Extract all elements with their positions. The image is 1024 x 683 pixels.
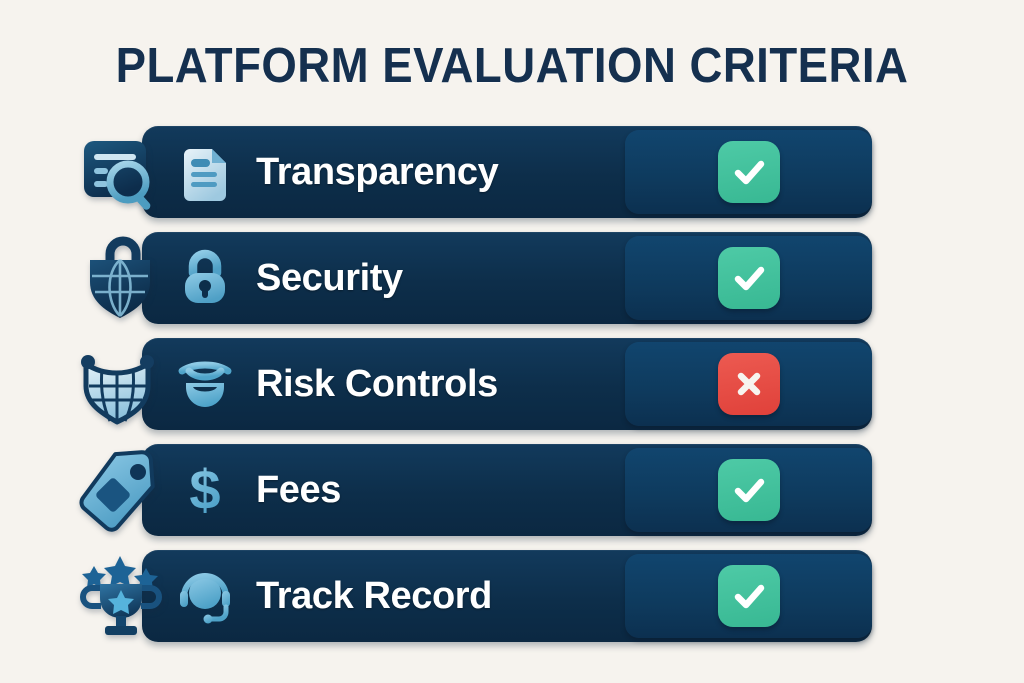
criteria-label: Fees [256,469,341,512]
criteria-row[interactable]: Risk Controls [0,338,1024,430]
criteria-label: Transparency [256,151,498,194]
check-icon [729,470,769,510]
criteria-label: Security [256,257,403,300]
check-icon [729,576,769,616]
status-panel[interactable] [625,448,872,532]
criteria-label: Track Record [256,575,492,618]
criteria-label: Risk Controls [256,363,498,406]
page-title: PLATFORM EVALUATION CRITERIA [36,38,988,94]
check-icon [729,258,769,298]
dollar-sign-icon: $ [166,459,244,521]
criteria-row[interactable]: Security [0,232,1024,324]
price-tag-badge-icon [78,448,164,534]
status-badge[interactable] [718,247,780,309]
criteria-row[interactable]: $ Fees [0,444,1024,536]
status-badge[interactable] [718,565,780,627]
shield-net-icon [166,353,244,415]
infographic-page: PLATFORM EVALUATION CRITERIA [0,0,1024,683]
criteria-row[interactable]: Transparency [0,126,1024,218]
status-panel[interactable] [625,342,872,426]
check-icon [729,152,769,192]
headset-icon [166,565,244,627]
status-panel[interactable] [625,236,872,320]
trophy-stars-badge-icon [78,554,164,640]
status-badge[interactable] [718,459,780,521]
criteria-row[interactable]: Track Record [0,550,1024,642]
document-search-badge-icon [78,130,164,216]
status-badge[interactable] [718,353,780,415]
status-panel[interactable] [625,130,872,214]
status-badge[interactable] [718,141,780,203]
cross-icon [729,364,769,404]
padlock-icon [166,247,244,309]
criteria-list: Transparency [0,126,1024,656]
globe-shield-badge-icon [78,236,164,322]
svg-text:$: $ [189,459,220,521]
status-panel[interactable] [625,554,872,638]
document-icon [166,141,244,203]
net-shield-badge-icon [78,342,164,428]
